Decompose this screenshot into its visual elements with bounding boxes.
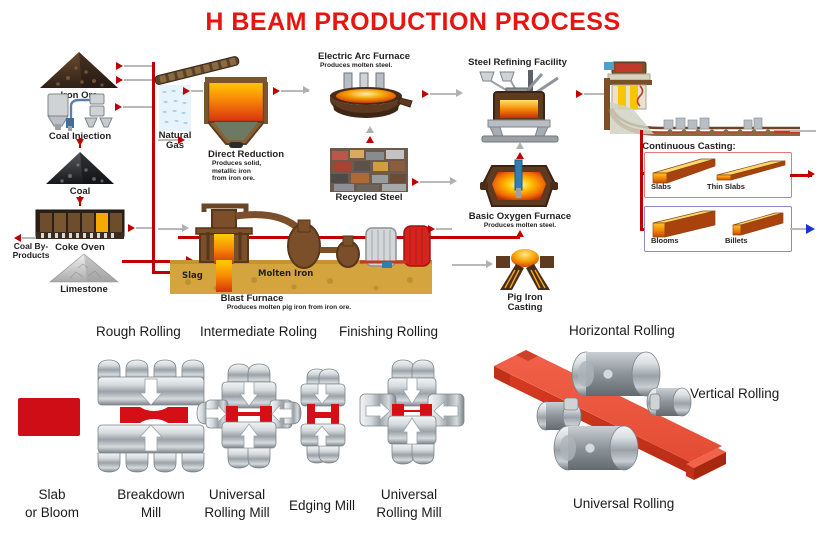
label-edging-mill: Edging Mill: [276, 497, 368, 515]
garrow-pig: [486, 260, 493, 268]
electric-arc-furnace-icon: [326, 70, 416, 122]
arrow-coke-out: [128, 224, 135, 232]
caption-electric-arc-furnace: Produces molten steel.: [320, 62, 450, 70]
universal-rolling-mill-2-icon: [356, 358, 468, 472]
svg-text:≈: ≈: [174, 118, 179, 125]
label-slab-or-bloom-2: or Bloom: [14, 504, 90, 522]
svg-text:Molten Iron: Molten Iron: [258, 269, 313, 279]
node-steel-refining: [472, 68, 568, 142]
breakdown-mill-icon: [92, 357, 210, 475]
label-steel-refining: Steel Refining Facility: [455, 58, 580, 68]
gline-13: [436, 228, 452, 230]
label-limestone: Limestone: [48, 285, 120, 295]
svg-text:≈: ≈: [162, 109, 167, 116]
limestone-pile-icon: [48, 252, 120, 284]
node-blast-furnace: Slag Molten Iron: [170, 202, 432, 298]
gline-cc-out: [790, 130, 816, 132]
svg-text:≈: ≈: [173, 98, 178, 105]
edging-mill-icon: [289, 368, 355, 464]
header-finishing-rolling: Finishing Rolling: [339, 324, 438, 339]
header-rough-rolling: Rough Rolling: [96, 324, 181, 339]
node-recycled-steel: Recycled Steel: [330, 148, 408, 203]
gline-9: [430, 93, 458, 95]
arrow-eaf-out: [422, 90, 429, 98]
mill-edging: [289, 368, 355, 464]
blast-furnace-icon: Slag Molten Iron: [170, 202, 432, 298]
diagram-canvas: H BEAM PRODUCTION PROCESS Iron Ore: [0, 0, 826, 538]
steel-refining-icon: [472, 68, 568, 142]
label-blast-furnace: Blast Furnace: [182, 294, 322, 304]
casting-distributor-line: [640, 130, 643, 230]
direct-reduction-icon: [200, 72, 272, 150]
label-horizontal-rolling: Horizontal Rolling: [569, 323, 675, 338]
garrow-bf-in: [182, 224, 189, 232]
gline-6: [158, 139, 180, 141]
caption-blast-furnace: Produces molten pig iron from iron ore.: [164, 304, 414, 312]
svg-text:≈: ≈: [172, 108, 177, 115]
universal-rolling-mill-1-icon: [196, 362, 302, 470]
label-slab-or-bloom-1: Slab: [14, 486, 90, 504]
mill-breakdown: [92, 357, 210, 475]
gline-10: [584, 93, 606, 95]
label-universal-mill-1-1: Universal: [190, 486, 284, 504]
universal-rolling-3d-icon: [490, 344, 750, 494]
arrow-gas-down: [178, 136, 185, 144]
mill-universal-2: [356, 358, 468, 472]
gline-1: [124, 65, 152, 67]
basic-oxygen-furnace-icon: [480, 160, 558, 212]
mill-universal-1: [196, 362, 302, 470]
arrow-coalinj-out: [115, 103, 122, 111]
caption-dr-1: Produces solid,: [212, 160, 294, 168]
svg-text:≈: ≈: [162, 89, 167, 96]
node-pig-iron-casting: Pig Iron Casting: [494, 248, 556, 313]
arrow-recycled-right: [412, 178, 419, 186]
arrow-dr-out: [273, 87, 280, 95]
coal-injection-icon: [40, 90, 120, 132]
arrow-bloom-out: [806, 224, 815, 234]
casting-slab-group: Slabs Thin Slabs: [644, 152, 792, 198]
label-direct-reduction: Direct Reduction: [196, 150, 296, 160]
universal-rolling-3d: [490, 344, 750, 494]
arrow-gas-up: [183, 87, 190, 95]
arrow-recycled-up: [366, 136, 374, 143]
arrow-ore-to-conveyor-1: [116, 62, 123, 70]
arrow-slab-out: [808, 170, 815, 178]
node-direct-reduction: [200, 72, 272, 150]
garrow-bof-up: [516, 142, 524, 149]
svg-text:≈: ≈: [181, 110, 186, 117]
recycled-steel-icon: [330, 148, 408, 192]
garrow-eaf: [456, 89, 463, 97]
arrow-down-to-coal: [76, 139, 84, 146]
label-blooms: Blooms: [651, 237, 679, 245]
slab-or-bloom-block: [18, 398, 80, 436]
iron-ore-pile-icon: [38, 50, 120, 90]
label-billets: Billets: [725, 237, 748, 245]
label-slabs: Slabs: [651, 183, 671, 191]
label-continuous-casting: Continuous Casting:: [614, 142, 764, 152]
node-coal-injection: Coal Injection: [40, 90, 120, 142]
caption-dr-3: from iron ore.: [212, 175, 294, 183]
coal-pile-icon: [44, 150, 116, 186]
label-basic-oxygen-furnace: Basic Oxygen Furnace: [452, 212, 588, 222]
node-limestone: Limestone: [48, 252, 120, 295]
label-pig-iron-casting: Pig Iron Casting: [494, 293, 556, 313]
gline-3: [123, 106, 152, 108]
continuous-casting-icon: [604, 62, 814, 144]
svg-text:≈: ≈: [164, 119, 169, 126]
gline-2: [124, 79, 152, 81]
gline-11: [452, 264, 488, 266]
gline-byprod: [22, 237, 36, 239]
node-coal: Coal: [44, 150, 116, 197]
label-universal-mill-1-2: Rolling Mill: [190, 504, 284, 522]
arrow-bf-out-1: [428, 225, 435, 233]
garrow-recycled: [450, 177, 457, 185]
arrow-bof-up: [516, 152, 524, 159]
caption-dr-2: metallic iron: [212, 168, 294, 176]
arrow-ore-to-conveyor-2: [116, 76, 123, 84]
svg-text:≈: ≈: [171, 88, 176, 95]
label-universal-mill-2-2: Rolling Mill: [362, 504, 456, 522]
node-basic-oxygen-furnace: [480, 160, 558, 212]
svg-text:≈: ≈: [182, 100, 187, 107]
label-electric-arc-furnace: Electric Arc Furnace: [318, 52, 448, 62]
arrow-refining-out: [576, 90, 583, 98]
label-universal-rolling: Universal Rolling: [573, 496, 674, 511]
label-thin-slabs: Thin Slabs: [707, 183, 745, 191]
gline-12: [158, 228, 184, 230]
pig-iron-casting-icon: [494, 248, 556, 292]
garrow-recycled-up: [366, 126, 374, 133]
svg-text:Slag: Slag: [182, 271, 203, 281]
flow-trunk-vertical: [152, 62, 155, 274]
svg-text:≈: ≈: [163, 99, 168, 106]
node-continuous-casting: [604, 62, 814, 144]
node-electric-arc-furnace: [326, 70, 416, 122]
casting-bloom-group: Blooms Billets: [644, 206, 792, 252]
gline-8: [420, 181, 452, 183]
caption-basic-oxygen-furnace: Produces molten steel.: [452, 222, 588, 230]
page-title: H BEAM PRODUCTION PROCESS: [0, 8, 826, 37]
header-intermediate-rolling: Intermediate Roling: [200, 324, 317, 339]
arrow-down-to-coke: [76, 197, 84, 204]
garrow-dr: [303, 86, 310, 94]
gline-4: [136, 227, 152, 229]
arrow-to-bof: [516, 230, 524, 237]
svg-text:≈: ≈: [183, 120, 188, 127]
coke-oven-icon: [34, 208, 126, 242]
label-universal-mill-2-1: Universal: [362, 486, 456, 504]
